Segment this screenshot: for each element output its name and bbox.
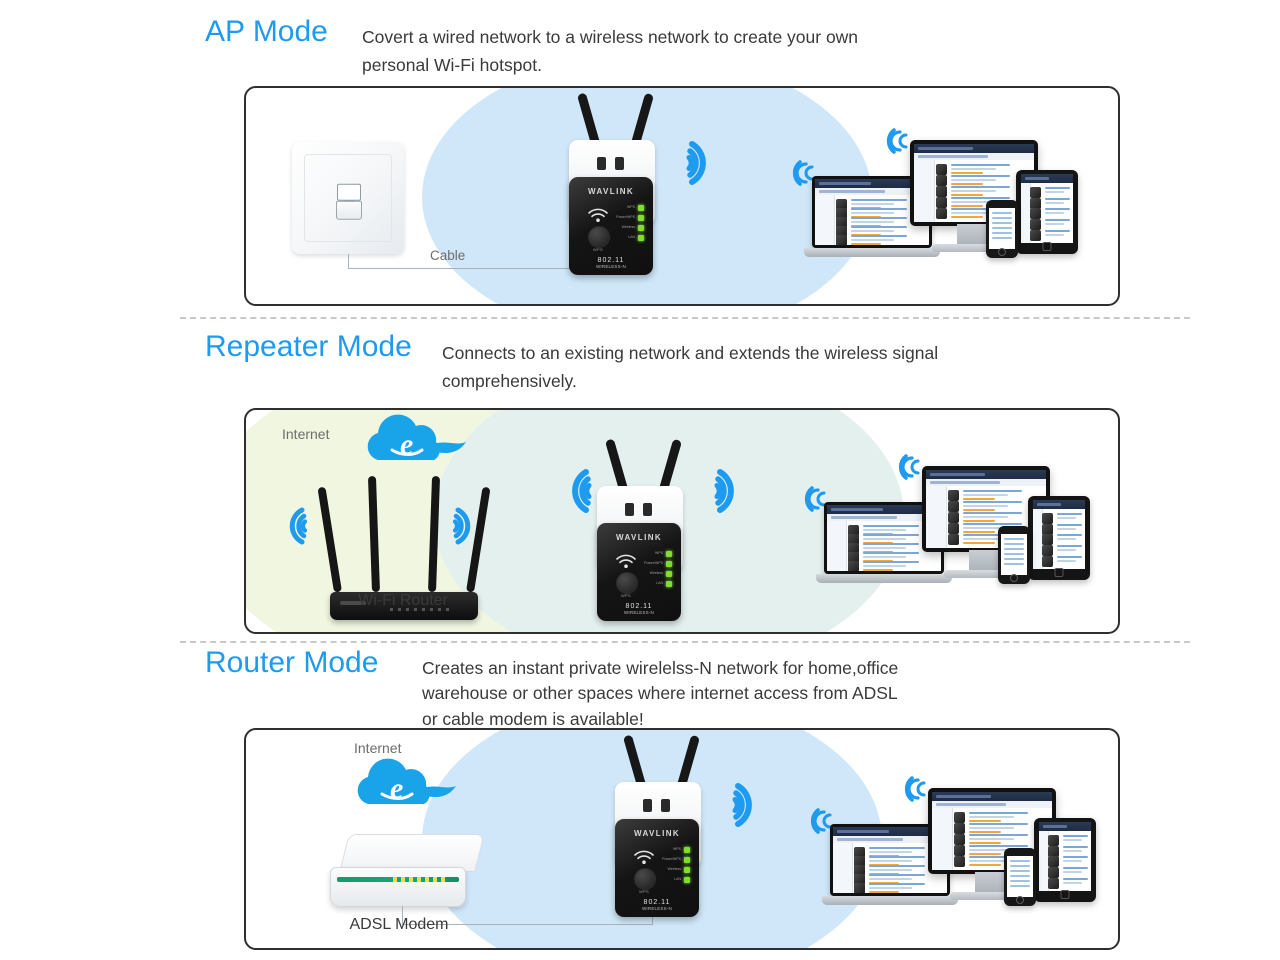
row-line xyxy=(969,823,1028,825)
row-line xyxy=(869,883,925,885)
row-line xyxy=(1057,538,1076,540)
page-row xyxy=(1030,186,1070,195)
tablet-home-button[interactable] xyxy=(1061,890,1070,899)
led-light xyxy=(638,235,644,241)
row-line xyxy=(963,501,1022,503)
row-line xyxy=(1045,230,1070,232)
page-row xyxy=(1030,218,1070,227)
internet-cloud-icon: e xyxy=(338,758,458,820)
row-line xyxy=(963,516,1009,518)
row-thumbnail xyxy=(936,208,947,219)
adsl-modem-label: ADSL Modem xyxy=(304,916,494,934)
browser-chrome xyxy=(926,470,1046,479)
phone-line xyxy=(992,212,1012,214)
wifi-signal-icon xyxy=(732,778,774,832)
row-line xyxy=(869,865,925,867)
wavlink-logo: WAVLINK xyxy=(569,187,653,196)
led-label: Wireless xyxy=(668,867,681,871)
browser-chrome xyxy=(1039,822,1091,831)
led-light xyxy=(638,225,644,231)
section-ap-mode: AP Mode Covert a wired network to a wire… xyxy=(0,0,1280,318)
page-row xyxy=(1030,207,1070,216)
page-row xyxy=(1042,512,1082,521)
page-row xyxy=(1048,845,1088,854)
row-line xyxy=(963,490,1022,492)
page-row xyxy=(1030,197,1070,206)
row-line xyxy=(1045,234,1064,236)
led-label: LAN xyxy=(674,877,681,881)
phone-screen-content xyxy=(1007,856,1033,897)
wifi-signal-icon-router-right xyxy=(452,504,486,548)
row-line xyxy=(1063,835,1088,837)
row-line xyxy=(1045,219,1070,221)
row-line xyxy=(1063,871,1082,873)
phone-line xyxy=(1004,548,1024,550)
phone-line xyxy=(1004,553,1024,555)
row-line xyxy=(1063,867,1088,869)
phone-line xyxy=(1004,543,1024,545)
wps-button[interactable] xyxy=(588,226,610,248)
wifi-glyph-icon xyxy=(633,849,655,865)
device-footer-sub: WIRELESS-N xyxy=(596,264,626,269)
led-label: Wireless xyxy=(650,571,663,575)
led-label: Wireless xyxy=(622,225,635,229)
plug-prong-right xyxy=(661,799,670,812)
page-row xyxy=(1048,866,1088,875)
page-row xyxy=(848,551,938,558)
row-line xyxy=(951,164,1010,166)
ap-mode-description: Covert a wired network to a wireless net… xyxy=(362,24,1002,79)
row-thumbnail xyxy=(1042,556,1053,567)
wifi-extender-device: WAVLINK WPS WPS Power/WPS Wireless LAN xyxy=(536,94,686,279)
row-line xyxy=(863,547,906,549)
led-light xyxy=(666,581,672,587)
row-line xyxy=(1063,882,1082,884)
phone-screen xyxy=(1004,848,1036,906)
row-line xyxy=(969,834,1028,836)
wifi-router-label: Wi-Fi Router xyxy=(308,592,498,610)
row-line xyxy=(969,845,1028,847)
row-line xyxy=(1057,524,1082,526)
wps-button[interactable] xyxy=(634,868,656,890)
led-light xyxy=(684,867,690,873)
row-line xyxy=(951,190,997,192)
tablet-screen xyxy=(1028,496,1090,580)
row-line xyxy=(1063,850,1082,852)
device-footer: 802.11 WIRELESS-N xyxy=(597,603,681,615)
row-line xyxy=(1057,513,1082,515)
row-line xyxy=(1063,856,1088,858)
row-line xyxy=(851,203,894,205)
led-label: Power/WPS xyxy=(616,215,635,219)
ap-mode-diagram-panel: Cable WAVLINK xyxy=(244,86,1120,306)
client-devices-cluster xyxy=(804,124,1094,284)
repeater-mode-title: Repeater Mode xyxy=(205,332,412,362)
row-line xyxy=(863,538,906,540)
row-line xyxy=(1045,198,1070,200)
row-line xyxy=(969,827,1015,829)
row-line xyxy=(851,208,907,210)
page-rows xyxy=(1042,512,1082,566)
laptop-base xyxy=(804,248,941,257)
wps-button-label: WPS xyxy=(582,247,614,252)
row-thumbnail xyxy=(948,534,959,545)
row-line xyxy=(1063,878,1088,880)
device-footer: 802.11 WIRELESS-N xyxy=(569,257,653,269)
row-line xyxy=(951,186,1010,188)
phone-home-button[interactable] xyxy=(1016,896,1024,904)
row-line xyxy=(1045,223,1064,225)
page-sidebar xyxy=(932,808,953,870)
page-row xyxy=(1030,229,1070,238)
section-repeater-mode: Repeater Mode Connects to an existing ne… xyxy=(0,318,1280,640)
led-label: WPS xyxy=(673,847,681,851)
phone-line xyxy=(1010,860,1030,862)
row-line xyxy=(851,226,907,228)
row-line xyxy=(951,179,997,181)
wifi-glyph-icon xyxy=(587,207,609,223)
wavlink-logo: WAVLINK xyxy=(615,829,699,838)
led-light xyxy=(684,877,690,883)
phone-line xyxy=(1004,563,1024,565)
phone-line xyxy=(1010,875,1030,877)
led-indicator-group: WPS Power/WPS Wireless LAN xyxy=(610,203,644,243)
repeater-mode-description: Connects to an existing network and exte… xyxy=(442,340,1062,395)
plug-prong-right xyxy=(615,157,624,170)
wifi-signal-icon-router-left xyxy=(274,504,308,548)
wifi-glyph-icon xyxy=(615,553,637,569)
plug-prong-left xyxy=(643,799,652,812)
row-line xyxy=(863,529,906,531)
row-line xyxy=(851,212,894,214)
client-devices-cluster xyxy=(816,450,1106,610)
svg-text:e: e xyxy=(400,428,413,461)
tablet-screen-content xyxy=(1039,822,1091,891)
page-sidebar xyxy=(1039,831,1049,891)
modem-front-face xyxy=(330,867,466,907)
row-thumbnail xyxy=(954,856,965,867)
row-line xyxy=(1045,212,1064,214)
browser-chrome xyxy=(914,144,1034,153)
row-line xyxy=(1057,528,1076,530)
wifi-extender-device: WAVLINK WPS WPS Power/WPS Wireless LAN xyxy=(582,736,732,921)
phone-screen-content xyxy=(1001,534,1027,575)
tablet-screen-content xyxy=(1033,500,1085,569)
wifi-extender-device: WAVLINK WPS WPS Power/WPS Wireless LAN xyxy=(564,440,714,625)
laptop-base xyxy=(816,574,953,583)
browser-chrome xyxy=(1021,174,1073,183)
phone-line xyxy=(1004,538,1024,540)
wavlink-logo: WAVLINK xyxy=(597,533,681,542)
row-line xyxy=(1063,839,1082,841)
device-footer-standard: 802.11 xyxy=(615,899,699,906)
row-line xyxy=(863,534,919,536)
row-line xyxy=(851,235,907,237)
page-sidebar xyxy=(1033,509,1043,569)
row-line xyxy=(863,552,919,554)
row-line xyxy=(1045,191,1064,193)
page-body xyxy=(1033,509,1085,569)
row-line xyxy=(951,175,1010,177)
router-antenna-1 xyxy=(317,487,341,593)
row-line xyxy=(1063,846,1088,848)
smartphone-device xyxy=(1004,848,1036,906)
page-body xyxy=(1021,183,1073,243)
led-light xyxy=(684,847,690,853)
led-indicator-group: WPS Power/WPS Wireless LAN xyxy=(656,845,690,885)
wifi-signal-icon xyxy=(686,136,728,190)
phone-line xyxy=(1010,870,1030,872)
plug-prong-left xyxy=(597,157,606,170)
row-line xyxy=(1057,517,1076,519)
router-mode-diagram-panel: Internet e ADSL Modem xyxy=(244,728,1120,950)
device-footer: 802.11 WIRELESS-N xyxy=(615,899,699,911)
section-router-mode: Router Mode Creates an instant private w… xyxy=(0,640,1280,960)
smartphone-device xyxy=(986,200,1018,258)
row-thumbnail xyxy=(1048,878,1059,889)
device-footer-sub: WIRELESS-N xyxy=(624,610,654,615)
tablet-device xyxy=(1016,170,1078,254)
rj45-jack-glyph xyxy=(336,201,362,220)
page-body xyxy=(1039,831,1091,891)
smartphone-device xyxy=(998,526,1030,584)
cable-line-vertical xyxy=(348,254,349,268)
ethernet-wall-socket-icon xyxy=(292,142,404,254)
row-line xyxy=(951,216,983,218)
wps-button-label: WPS xyxy=(610,593,642,598)
phone-line xyxy=(992,232,1012,234)
phone-line xyxy=(1004,558,1024,560)
page-rows xyxy=(1030,186,1070,240)
row-line xyxy=(1057,545,1082,547)
row-thumbnail xyxy=(1030,230,1041,241)
page-row xyxy=(836,234,926,241)
phone-line xyxy=(1010,885,1030,887)
page-sidebar xyxy=(1021,183,1031,243)
row-line xyxy=(969,864,1001,866)
laptop-base xyxy=(822,896,959,905)
page-rows xyxy=(1048,834,1088,888)
phone-line xyxy=(992,227,1012,229)
row-line xyxy=(869,874,925,876)
internet-label: Internet xyxy=(354,740,401,756)
row-line xyxy=(869,860,912,862)
internet-label: Internet xyxy=(282,426,329,442)
led-indicator-group: WPS Power/WPS Wireless LAN xyxy=(638,549,672,589)
row-line xyxy=(863,565,906,567)
page-row xyxy=(1042,533,1082,542)
page-row xyxy=(1042,523,1082,532)
phone-line xyxy=(1010,880,1030,882)
led-light xyxy=(638,205,644,211)
wps-button[interactable] xyxy=(616,572,638,594)
extender-body: WAVLINK WPS WPS Power/WPS Wireless LAN xyxy=(597,523,681,621)
device-footer-standard: 802.11 xyxy=(569,257,653,264)
row-line xyxy=(969,812,1028,814)
wifi-signal-icon-outgoing xyxy=(714,464,756,518)
row-line xyxy=(1045,202,1064,204)
row-line xyxy=(951,197,1010,199)
router-antenna-2 xyxy=(368,476,380,592)
page-sidebar xyxy=(815,195,835,245)
led-label: Power/WPS xyxy=(644,561,663,565)
browser-chrome xyxy=(1033,500,1085,509)
row-thumbnail xyxy=(854,883,865,893)
row-line xyxy=(969,816,1015,818)
led-label: LAN xyxy=(628,235,635,239)
row-line xyxy=(863,569,894,571)
phone-line xyxy=(992,217,1012,219)
tablet-home-button[interactable] xyxy=(1043,242,1052,251)
page-row xyxy=(1042,544,1082,553)
page-row xyxy=(1048,834,1088,843)
page-sidebar xyxy=(926,486,947,548)
page-row xyxy=(1042,555,1082,564)
phone-screen-content xyxy=(989,208,1015,249)
socket-port xyxy=(333,184,363,218)
device-footer-sub: WIRELESS-N xyxy=(642,906,672,911)
led-light xyxy=(666,561,672,567)
led-label: WPS xyxy=(627,205,635,209)
row-line xyxy=(869,887,912,889)
row-line xyxy=(869,847,925,849)
extender-body: WAVLINK WPS WPS Power/WPS Wireless LAN xyxy=(569,177,653,275)
row-line xyxy=(1045,208,1070,210)
phone-line xyxy=(1010,865,1030,867)
tablet-screen xyxy=(1016,170,1078,254)
page-sidebar xyxy=(914,160,935,222)
phone-line xyxy=(992,222,1012,224)
internet-cloud-icon: e xyxy=(348,414,468,476)
phone-home-button[interactable] xyxy=(998,248,1006,256)
row-line xyxy=(869,851,912,853)
tablet-screen-content xyxy=(1021,174,1073,243)
tablet-device xyxy=(1034,818,1096,902)
led-light xyxy=(684,857,690,863)
row-line xyxy=(951,168,997,170)
row-line xyxy=(863,525,919,527)
client-devices-cluster xyxy=(822,772,1112,932)
browser-chrome xyxy=(932,792,1052,801)
row-line xyxy=(851,221,894,223)
phone-line xyxy=(992,237,1012,239)
row-thumbnail xyxy=(836,235,847,245)
row-line xyxy=(963,505,1009,507)
tablet-screen xyxy=(1034,818,1096,902)
page-row xyxy=(854,882,944,889)
page-row xyxy=(836,225,926,232)
plug-prong-left xyxy=(625,503,634,516)
row-line xyxy=(963,512,1022,514)
row-line xyxy=(851,243,882,245)
page-row xyxy=(1048,877,1088,886)
row-line xyxy=(969,838,1015,840)
plug-prong-right xyxy=(643,503,652,516)
row-line xyxy=(869,891,900,893)
row-line xyxy=(869,869,912,871)
page-row xyxy=(1048,855,1088,864)
device-footer-standard: 802.11 xyxy=(597,603,681,610)
row-thumbnail xyxy=(848,561,859,571)
row-line xyxy=(963,542,995,544)
tablet-device xyxy=(1028,496,1090,580)
row-line xyxy=(851,217,907,219)
ap-mode-title: AP Mode xyxy=(205,17,328,47)
row-line xyxy=(863,543,919,545)
row-line xyxy=(851,199,907,201)
wps-button-label: WPS xyxy=(628,889,660,894)
phone-screen xyxy=(998,526,1030,584)
router-antenna-3 xyxy=(428,476,440,592)
row-line xyxy=(851,239,894,241)
row-line xyxy=(1057,556,1082,558)
page-sidebar xyxy=(827,521,847,571)
tablet-home-button[interactable] xyxy=(1055,568,1064,577)
led-light xyxy=(666,571,672,577)
row-line xyxy=(1057,549,1076,551)
led-light xyxy=(638,215,644,221)
adsl-modem-device xyxy=(330,834,478,910)
row-line xyxy=(851,230,894,232)
cable-label: Cable xyxy=(430,248,465,263)
modem-led-lights xyxy=(393,877,449,882)
row-line xyxy=(863,556,906,558)
row-line xyxy=(869,878,912,880)
repeater-mode-diagram-panel: Internet e Wi-Fi Router xyxy=(244,408,1120,634)
row-line xyxy=(1045,187,1070,189)
row-line xyxy=(963,523,1022,525)
led-label: Power/WPS xyxy=(662,857,681,861)
router-mode-title: Router Mode xyxy=(205,648,378,678)
page-row xyxy=(848,560,938,567)
row-line xyxy=(1057,560,1076,562)
phone-home-button[interactable] xyxy=(1010,574,1018,582)
row-line xyxy=(963,494,1009,496)
phone-screen xyxy=(986,200,1018,258)
page-sidebar xyxy=(833,843,853,893)
router-mode-description: Creates an instant private wirelelss-N n… xyxy=(422,656,1022,732)
svg-text:e: e xyxy=(390,772,403,805)
row-line xyxy=(863,561,919,563)
page-row xyxy=(854,873,944,880)
led-light xyxy=(666,551,672,557)
led-label: WPS xyxy=(655,551,663,555)
row-line xyxy=(1057,534,1082,536)
row-line xyxy=(1063,860,1082,862)
extender-body: WAVLINK WPS WPS Power/WPS Wireless LAN xyxy=(615,819,699,917)
row-line xyxy=(869,856,925,858)
monitor-glyph xyxy=(337,184,361,201)
led-label: LAN xyxy=(656,581,663,585)
